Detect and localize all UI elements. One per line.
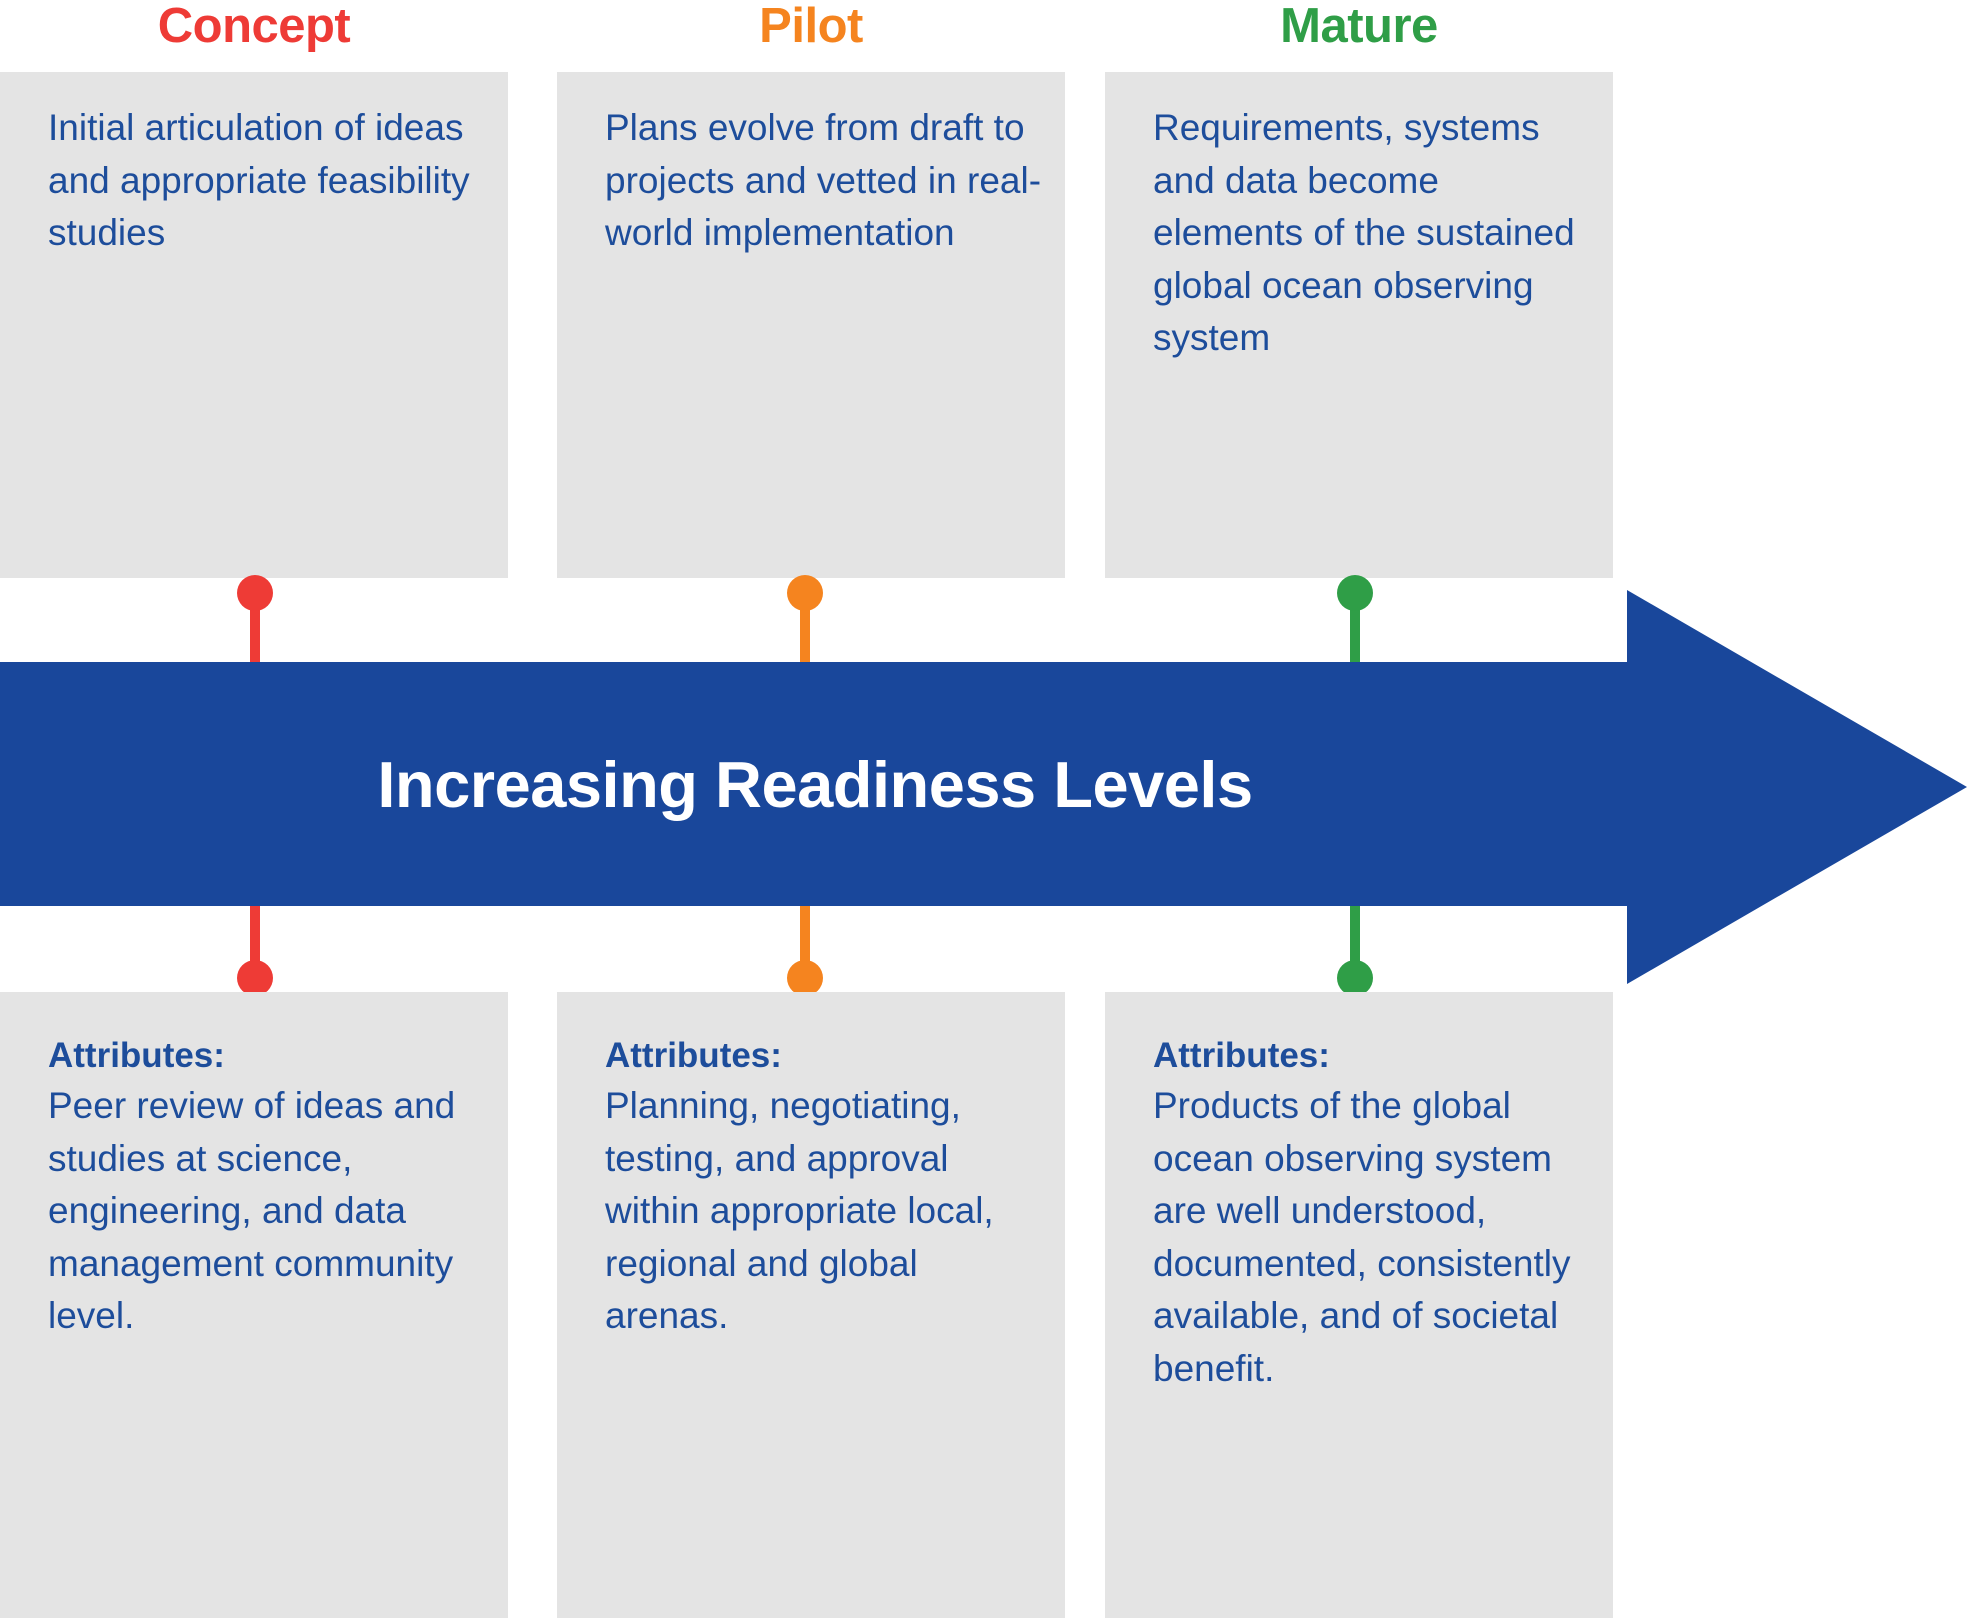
attributes-body-pilot: Planning, negotiating, testing, and appr…	[605, 1080, 1049, 1343]
attributes-panel-mature: Attributes: Products of the global ocean…	[1105, 992, 1613, 1618]
connector-dot-bottom-mature	[1337, 960, 1373, 996]
attributes-label-concept: Attributes:	[48, 1032, 492, 1080]
stage-title-pilot: Pilot	[557, 2, 1065, 51]
stage-title-mature: Mature	[1105, 2, 1613, 51]
description-panel-mature: Requirements, systems and data become el…	[1105, 72, 1613, 578]
attributes-text-concept: Attributes: Peer review of ideas and stu…	[48, 1032, 492, 1343]
stage-title-concept: Concept	[0, 2, 508, 51]
connector-dot-bottom-pilot	[787, 960, 823, 996]
description-text-pilot: Plans evolve from draft to projects and …	[605, 102, 1043, 260]
readiness-levels-diagram: Concept Pilot Mature Initial articulatio…	[0, 0, 1975, 1618]
attributes-label-mature: Attributes:	[1153, 1032, 1597, 1080]
attributes-body-mature: Products of the global ocean observing s…	[1153, 1080, 1597, 1395]
attributes-text-pilot: Attributes: Planning, negotiating, testi…	[605, 1032, 1049, 1343]
attributes-body-concept: Peer review of ideas and studies at scie…	[48, 1080, 492, 1343]
description-text-concept: Initial articulation of ideas and approp…	[48, 102, 486, 260]
description-panel-concept: Initial articulation of ideas and approp…	[0, 72, 508, 578]
description-text-mature: Requirements, systems and data become el…	[1153, 102, 1591, 365]
connector-dot-bottom-concept	[237, 960, 273, 996]
description-panel-pilot: Plans evolve from draft to projects and …	[557, 72, 1065, 578]
attributes-panel-concept: Attributes: Peer review of ideas and stu…	[0, 992, 508, 1618]
arrow-shape	[0, 590, 1975, 984]
attributes-panel-pilot: Attributes: Planning, negotiating, testi…	[557, 992, 1065, 1618]
attributes-text-mature: Attributes: Products of the global ocean…	[1153, 1032, 1597, 1395]
increasing-readiness-arrow	[0, 590, 1975, 984]
attributes-label-pilot: Attributes:	[605, 1032, 1049, 1080]
